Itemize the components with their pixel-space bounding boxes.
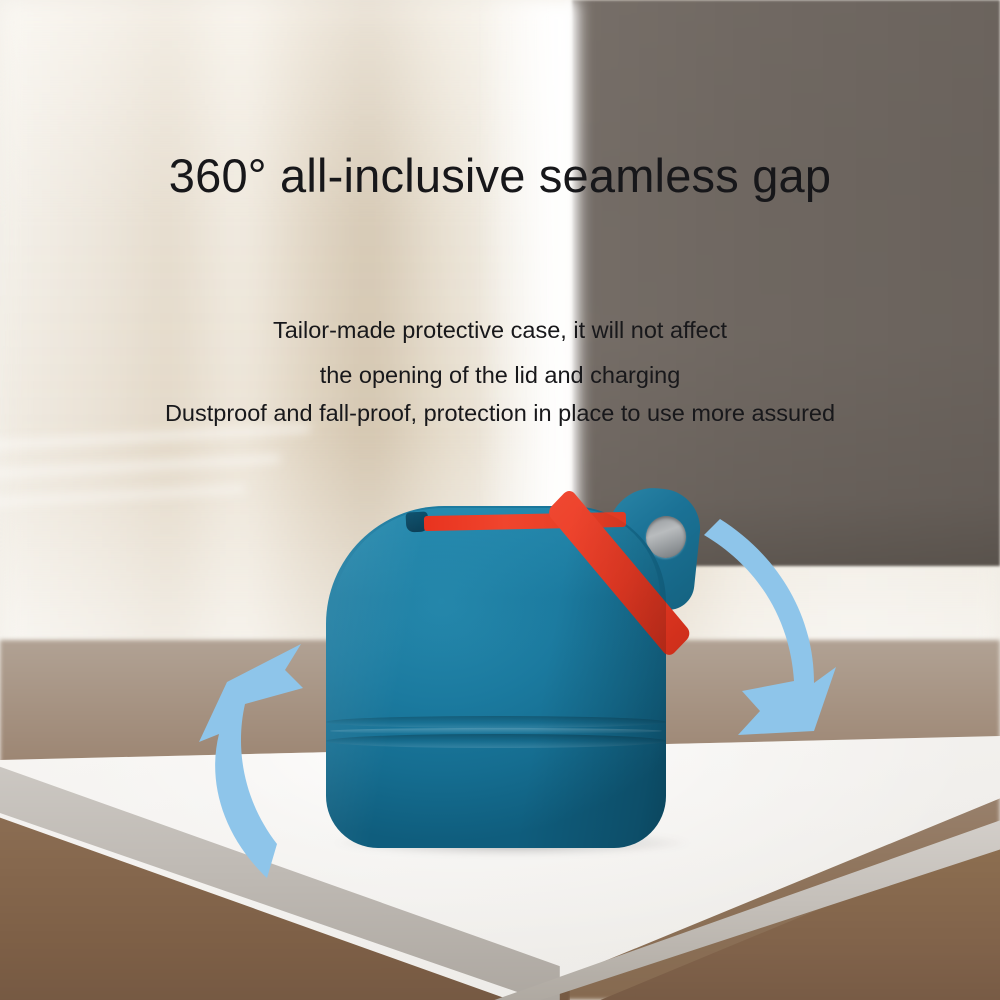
- product-earbuds-case: [310, 478, 710, 868]
- body-line-3: Dustproof and fall-proof, protection in …: [0, 400, 1000, 427]
- body-line-2: the opening of the lid and charging: [0, 362, 1000, 389]
- page-title: 360° all-inclusive seamless gap: [0, 148, 1000, 203]
- promo-image-canvas: 360° all-inclusive seamless gap Tailor-m…: [0, 0, 1000, 1000]
- body-line-1: Tailor-made protective case, it will not…: [0, 317, 1000, 344]
